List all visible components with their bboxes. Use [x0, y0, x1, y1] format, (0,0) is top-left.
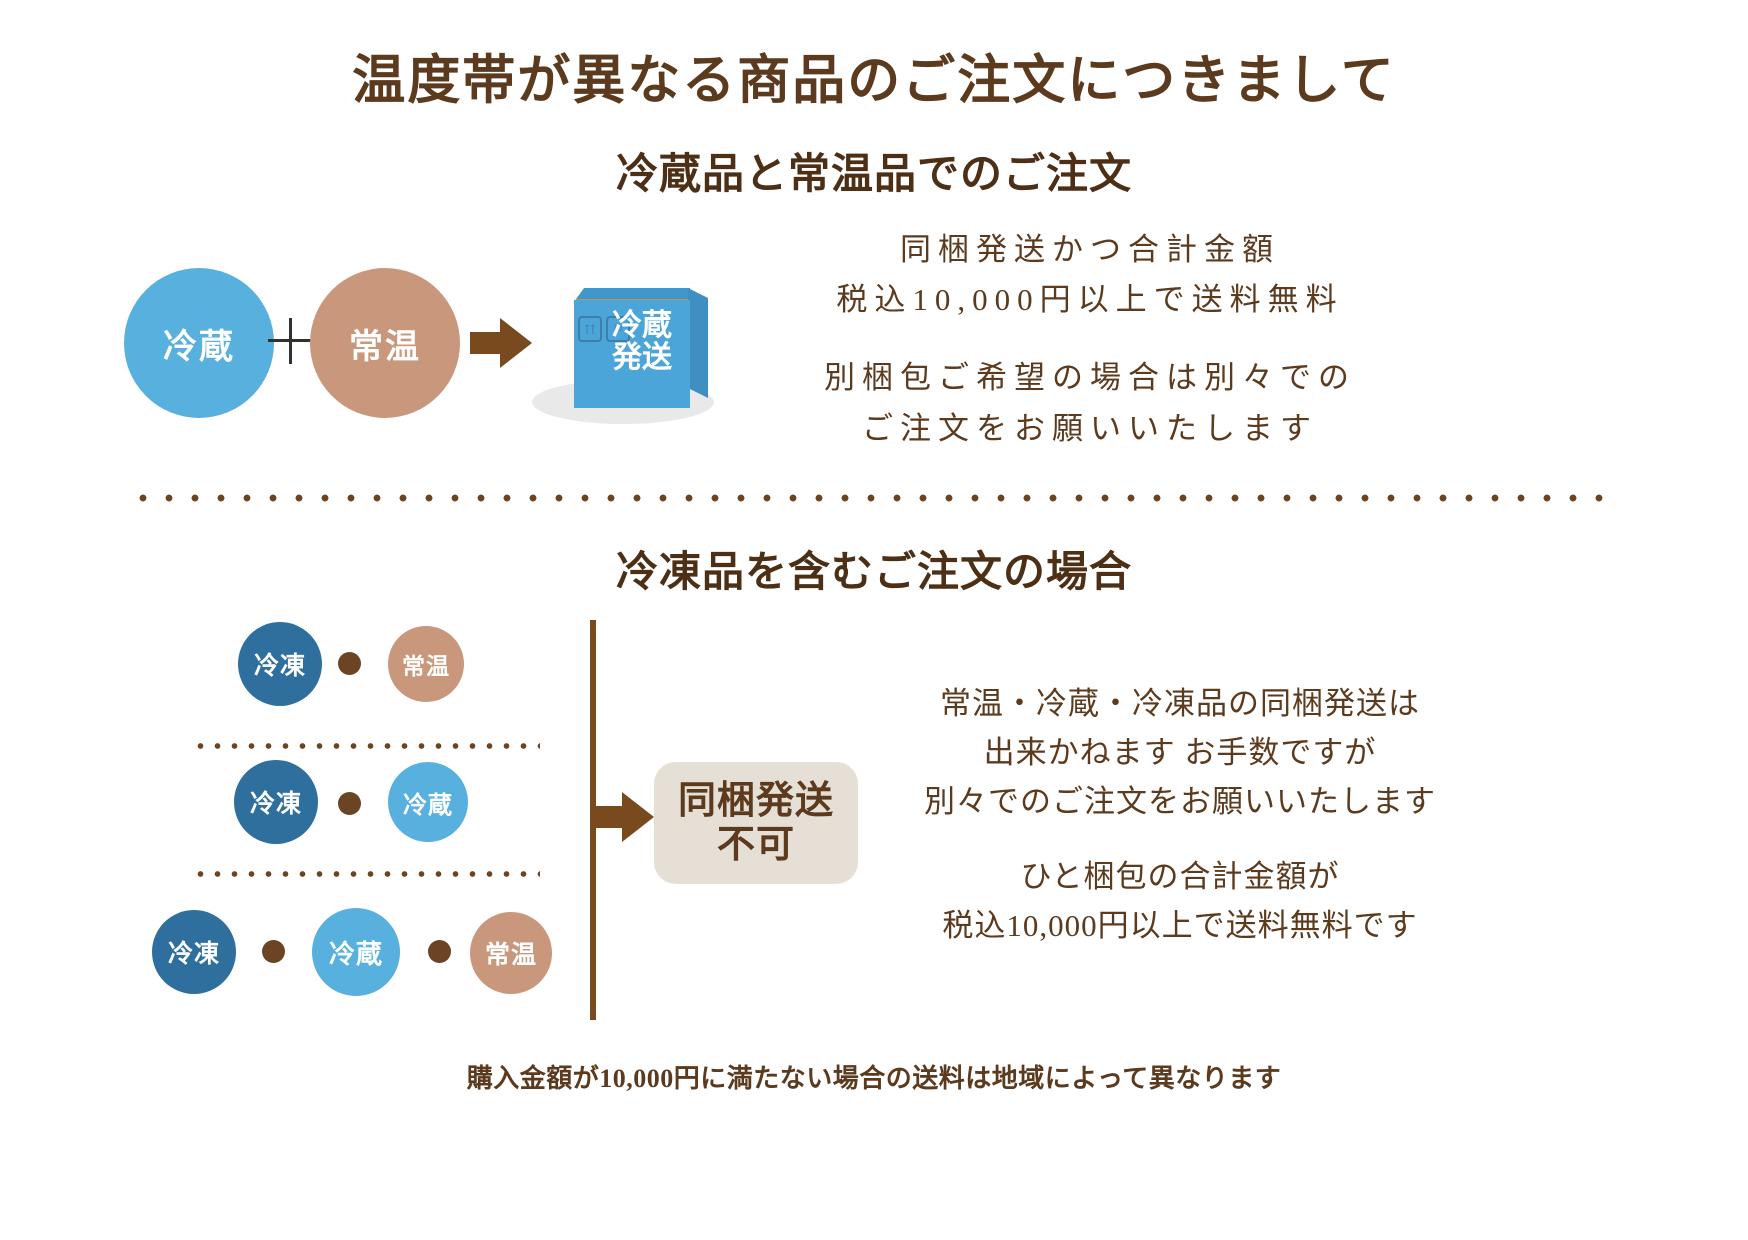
section-divider-dotted	[130, 492, 1610, 504]
s2-p1-line-1: 常温・冷蔵・冷凍品の同梱発送は	[900, 680, 1460, 729]
circle-refrigerated-row2: 冷蔵	[388, 762, 468, 842]
box-label-line-2: 発送	[590, 342, 694, 374]
plus-icon	[268, 318, 314, 364]
box-label-line-1: 冷蔵	[590, 310, 694, 342]
circle-label: 常温	[349, 319, 421, 368]
s2-p1-line-2: 出来かねます お手数ですが	[900, 729, 1460, 778]
arrow-right-icon-s2	[592, 792, 654, 842]
callout-line-1: 同梱発送	[678, 779, 834, 823]
s1-p2-line-1: 別梱包ご希望の場合は別々での	[780, 353, 1400, 403]
circle-ambient-s1: 常温	[310, 268, 460, 418]
paragraph-gap	[900, 827, 1460, 853]
circle-label: 冷蔵	[329, 934, 383, 971]
s1-p1-line-2: 税込10,000円以上で送料無料	[780, 275, 1400, 325]
section-1-text-block: 同梱発送かつ合計金額 税込10,000円以上で送料無料 別梱包ご希望の場合は別々…	[780, 225, 1400, 454]
paragraph-gap	[780, 325, 1400, 353]
circle-ambient-row1: 常温	[388, 626, 464, 702]
page-title: 温度帯が異なる商品のご注文につきまして	[0, 38, 1748, 114]
arrow-right-icon-s1	[470, 318, 532, 368]
circle-label: 冷蔵	[163, 319, 235, 368]
section-1-title: 冷蔵品と常温品でのご注文	[0, 140, 1748, 201]
circle-label: 常温	[485, 935, 537, 971]
infographic-page: 温度帯が異なる商品のご注文につきまして 冷蔵品と常温品でのご注文 冷蔵 常温 ⇈…	[0, 0, 1748, 1240]
arrow-head	[622, 792, 654, 842]
shipping-box-illustration: ⇈ ⚐ 冷蔵 発送	[530, 272, 720, 427]
no-bundle-callout: 同梱発送 不可	[654, 762, 858, 884]
section-2-title: 冷凍品を含むご注文の場合	[0, 538, 1748, 599]
separator-dot-icon	[428, 940, 451, 963]
box-label: 冷蔵 発送	[590, 310, 694, 375]
separator-dot-icon	[338, 652, 361, 675]
circle-frozen-row3: 冷凍	[152, 910, 236, 994]
s2-p2-line-1: ひと梱包の合計金額が	[900, 853, 1460, 902]
row-divider-dotted-1	[192, 740, 540, 752]
circle-label: 冷凍	[254, 646, 306, 682]
s2-p2-line-2: 税込10,000円以上で送料無料です	[900, 902, 1460, 951]
callout-line-2: 不可	[678, 823, 834, 867]
separator-dot-icon	[262, 940, 285, 963]
row-divider-dotted-2	[192, 868, 540, 880]
footer-note: 購入金額が10,000円に満たない場合の送料は地域によって異なります	[0, 1058, 1748, 1095]
s1-p2-line-2: ご注文をお願いいたします	[780, 404, 1400, 454]
callout-text: 同梱発送 不可	[678, 779, 834, 867]
circle-frozen-row1: 冷凍	[238, 622, 322, 706]
circle-label: 常温	[402, 647, 450, 681]
circle-label: 冷凍	[168, 934, 220, 970]
s2-p1-line-3: 別々でのご注文をお願いいたします	[900, 778, 1460, 827]
circle-frozen-row2: 冷凍	[234, 760, 318, 844]
s1-p1-line-1: 同梱発送かつ合計金額	[780, 225, 1400, 275]
circle-label: 冷凍	[250, 784, 302, 820]
arrow-head	[500, 318, 532, 368]
section-2-text-block: 常温・冷蔵・冷凍品の同梱発送は 出来かねます お手数ですが 別々でのご注文をお願…	[900, 680, 1460, 951]
circle-refrigerated-s1: 冷蔵	[124, 268, 274, 418]
circle-refrigerated-row3: 冷蔵	[312, 908, 400, 996]
separator-dot-icon	[338, 792, 361, 815]
circle-ambient-row3: 常温	[470, 912, 552, 994]
circle-label: 冷蔵	[403, 785, 453, 820]
